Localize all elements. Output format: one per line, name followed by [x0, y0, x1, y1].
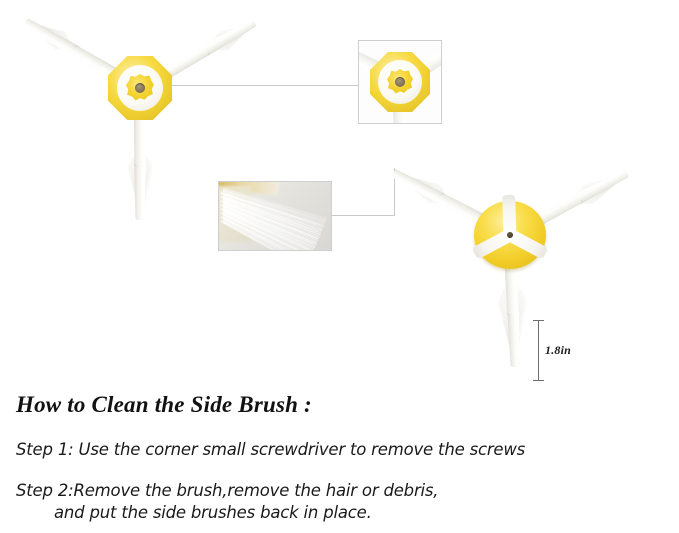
notch-lower — [502, 195, 516, 235]
bristle-closeup-callout[interactable] — [218, 181, 332, 251]
instruction-step-2-line2: and put the side brushes back in place. — [54, 503, 372, 522]
leader-line-hub — [168, 85, 368, 86]
right-side-brush-figure — [370, 135, 679, 400]
hub-closeup-callout[interactable] — [358, 40, 442, 124]
leader-line-bristle-h — [330, 215, 395, 216]
brush-hub-back — [474, 201, 546, 269]
brush-hub-front — [108, 56, 172, 120]
callout-hub-screw-icon — [395, 77, 405, 87]
instruction-graphic: 1.8in How to Clean the Side Brush : Step… — [0, 0, 679, 533]
dimension-cap-bottom — [533, 380, 544, 381]
dimension-line — [538, 320, 539, 381]
hub-screw-icon — [135, 83, 145, 93]
instruction-step-1: Step 1: Use the corner small screwdriver… — [16, 440, 525, 459]
callout-hub — [370, 52, 430, 112]
brush-arm-lower-outer — [134, 158, 146, 220]
dimension-cap-top — [533, 320, 544, 321]
hub-center-pin-icon — [507, 232, 513, 238]
instruction-step-2-line1: Step 2:Remove the brush,remove the hair … — [16, 481, 438, 500]
dimension-label: 1.8in — [545, 343, 571, 358]
page-title: How to Clean the Side Brush : — [16, 392, 312, 418]
